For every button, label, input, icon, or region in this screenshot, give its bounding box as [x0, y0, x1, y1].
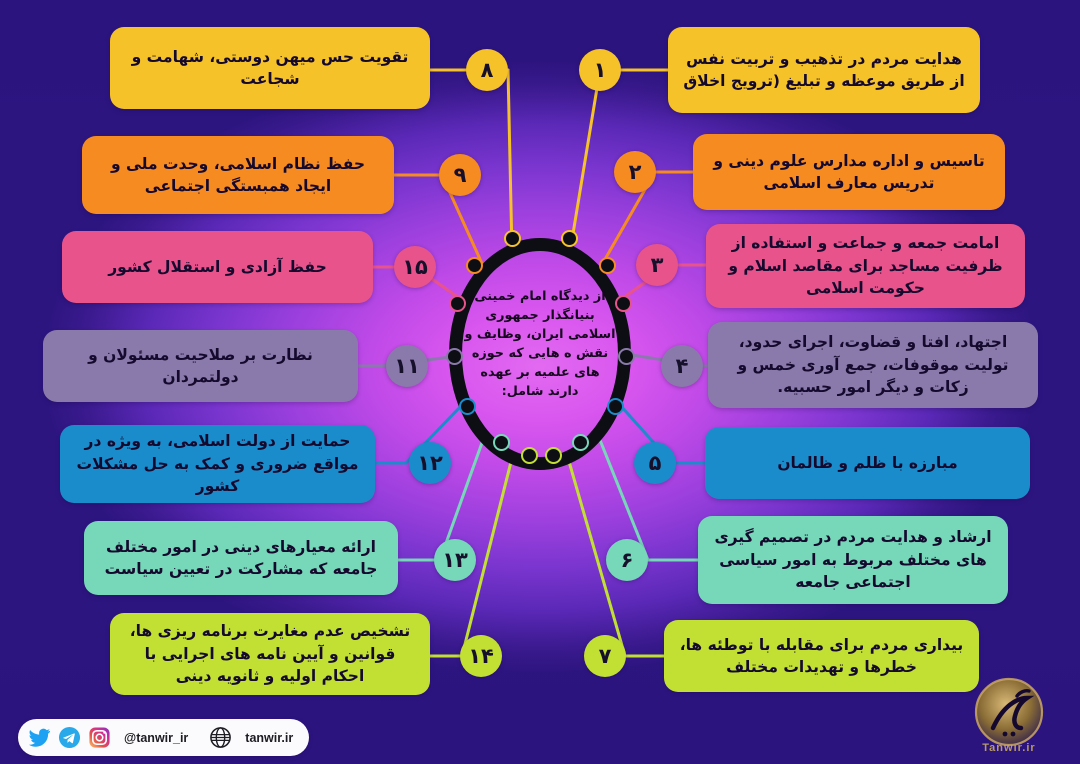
item-text: اجتهاد، افتا و قضاوت، اجرای حدود، تولیت …	[722, 331, 1024, 398]
item-box[interactable]: حمایت از دولت اسلامی، به ویژه در مواقع ض…	[60, 425, 375, 503]
number-badge-5[interactable]: ۵	[634, 442, 676, 484]
globe-icon[interactable]	[209, 726, 232, 749]
ring-dot	[545, 447, 562, 464]
item-text: ارائه معیارهای دینی در امور مختلف جامعه …	[98, 536, 384, 581]
item-text: هدایت مردم در تذهیب و تربیت نفس از طریق …	[682, 48, 966, 93]
number-badge-11[interactable]: ۱۱	[386, 345, 428, 387]
number-badge-6[interactable]: ۶	[606, 539, 648, 581]
infographic-canvas: از دیدگاه امام خمینی بنیانگذار جمهوری اس…	[0, 0, 1080, 764]
badge-number: ۱۲	[417, 451, 443, 475]
item-box[interactable]: نظارت بر صلاحیت مسئولان و دولتمردان	[43, 330, 358, 402]
ring-dot	[493, 434, 510, 451]
item-text: امامت جمعه و جماعت و استفاده از ظرفیت مس…	[720, 232, 1011, 299]
social-bar: @tanwir_ir tanwir.ir	[18, 719, 309, 756]
item-box[interactable]: تاسیس و اداره مدارس علوم دینی و تدریس مع…	[693, 134, 1005, 210]
item-box[interactable]: هدایت مردم در تذهیب و تربیت نفس از طریق …	[668, 27, 980, 113]
badge-number: ۶	[621, 548, 634, 572]
ring-dot	[572, 434, 589, 451]
item-box[interactable]: ارائه معیارهای دینی در امور مختلف جامعه …	[84, 521, 398, 595]
number-badge-14[interactable]: ۱۴	[460, 635, 502, 677]
number-badge-12[interactable]: ۱۲	[409, 442, 451, 484]
number-badge-7[interactable]: ۷	[584, 635, 626, 677]
item-text: نظارت بر صلاحیت مسئولان و دولتمردان	[57, 344, 344, 389]
ring-dot	[466, 257, 483, 274]
telegram-icon[interactable]	[58, 726, 81, 749]
badge-number: ۱۱	[394, 354, 420, 378]
badge-number: ۱۵	[402, 255, 428, 279]
ring-dot	[561, 230, 578, 247]
badge-number: ۱۴	[468, 644, 494, 668]
number-badge-1[interactable]: ۱	[579, 49, 621, 91]
twitter-icon[interactable]	[28, 726, 51, 749]
badge-number: ۹	[454, 163, 467, 187]
item-text: مبارزه با ظلم و ظالمان	[719, 452, 1016, 474]
ring-dot	[618, 348, 635, 365]
badge-number: ۷	[599, 644, 612, 668]
number-badge-2[interactable]: ۲	[614, 151, 656, 193]
ring-dot	[459, 398, 476, 415]
number-badge-13[interactable]: ۱۳	[434, 539, 476, 581]
item-box[interactable]: اجتهاد، افتا و قضاوت، اجرای حدود، تولیت …	[708, 322, 1038, 408]
item-text: حفظ آزادی و استقلال کشور	[76, 256, 359, 278]
item-box[interactable]: ارشاد و هدایت مردم در تصمیم گیری های مخت…	[698, 516, 1008, 604]
ring-dot	[607, 398, 624, 415]
badge-number: ۴	[676, 354, 689, 378]
item-box[interactable]: امامت جمعه و جماعت و استفاده از ظرفیت مس…	[706, 224, 1025, 308]
number-badge-9[interactable]: ۹	[439, 154, 481, 196]
item-text: بیداری مردم برای مقابله با توطئه ها، خطر…	[678, 634, 965, 679]
item-text: حفظ نظام اسلامی، وحدت ملی و ایجاد همبستگ…	[96, 153, 380, 198]
center-statement: از دیدگاه امام خمینی بنیانگذار جمهوری اس…	[463, 288, 617, 402]
item-text: تقویت حس میهن دوستی، شهامت و شجاعت	[124, 46, 416, 91]
item-text: تشخیص عدم مغایرت برنامه ریزی ها، قوانین …	[124, 620, 416, 687]
ring-dot	[615, 295, 632, 312]
ring-dot	[521, 447, 538, 464]
item-box[interactable]: تقویت حس میهن دوستی، شهامت و شجاعت	[110, 27, 430, 109]
number-badge-3[interactable]: ۳	[636, 244, 678, 286]
item-text: حمایت از دولت اسلامی، به ویژه در مواقع ض…	[74, 430, 361, 497]
item-box[interactable]: تشخیص عدم مغایرت برنامه ریزی ها، قوانین …	[110, 613, 430, 695]
item-text: ارشاد و هدایت مردم در تصمیم گیری های مخت…	[712, 526, 994, 593]
item-text: تاسیس و اداره مدارس علوم دینی و تدریس مع…	[707, 150, 991, 195]
center-ring: از دیدگاه امام خمینی بنیانگذار جمهوری اس…	[449, 238, 631, 470]
item-box[interactable]: بیداری مردم برای مقابله با توطئه ها، خطر…	[664, 620, 979, 692]
social-handle[interactable]: @tanwir_ir	[124, 731, 188, 745]
item-box[interactable]: مبارزه با ظلم و ظالمان	[705, 427, 1030, 499]
number-badge-8[interactable]: ۸	[466, 49, 508, 91]
ring-dot	[449, 295, 466, 312]
website-url[interactable]: tanwir.ir	[245, 731, 293, 745]
badge-number: ۱۳	[442, 548, 468, 572]
tanwir-logo-icon	[953, 672, 1065, 758]
badge-number: ۵	[649, 451, 662, 475]
badge-number: ۱	[594, 58, 607, 82]
item-box[interactable]: حفظ آزادی و استقلال کشور	[62, 231, 373, 303]
badge-number: ۲	[629, 160, 642, 184]
number-badge-15[interactable]: ۱۵	[394, 246, 436, 288]
instagram-icon[interactable]	[88, 726, 111, 749]
badge-number: ۸	[481, 58, 494, 82]
ring-dot	[504, 230, 521, 247]
badge-number: ۳	[651, 253, 664, 277]
ring-dot	[599, 257, 616, 274]
number-badge-4[interactable]: ۴	[661, 345, 703, 387]
ring-dot	[446, 348, 463, 365]
item-box[interactable]: حفظ نظام اسلامی، وحدت ملی و ایجاد همبستگ…	[82, 136, 394, 214]
